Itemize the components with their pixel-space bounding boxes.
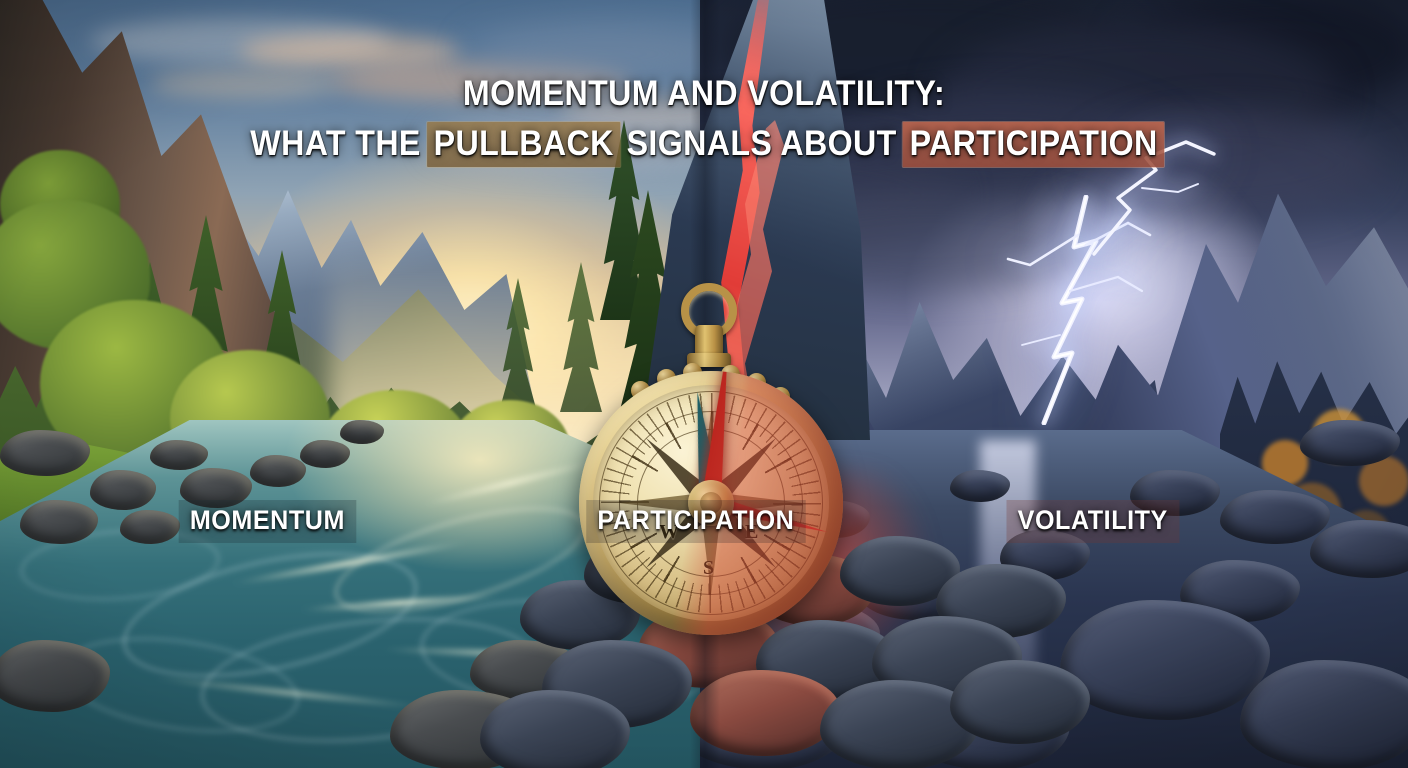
banner-image: N S E W MOMENTUM AND VOLATILITY: WHAT TH… [0,0,1408,768]
boulder-lit [690,670,840,756]
boulder [950,660,1090,744]
zone-label-participation: PARTICIPATION [586,500,805,543]
lightning-bolt-upper [1090,140,1220,260]
zone-label-volatility: VOLATILITY [1006,500,1179,543]
zone-label-momentum: MOMENTUM [179,500,356,543]
boulder [480,690,630,768]
cloud [150,70,340,98]
compass-cardinal-south: S [703,557,714,580]
